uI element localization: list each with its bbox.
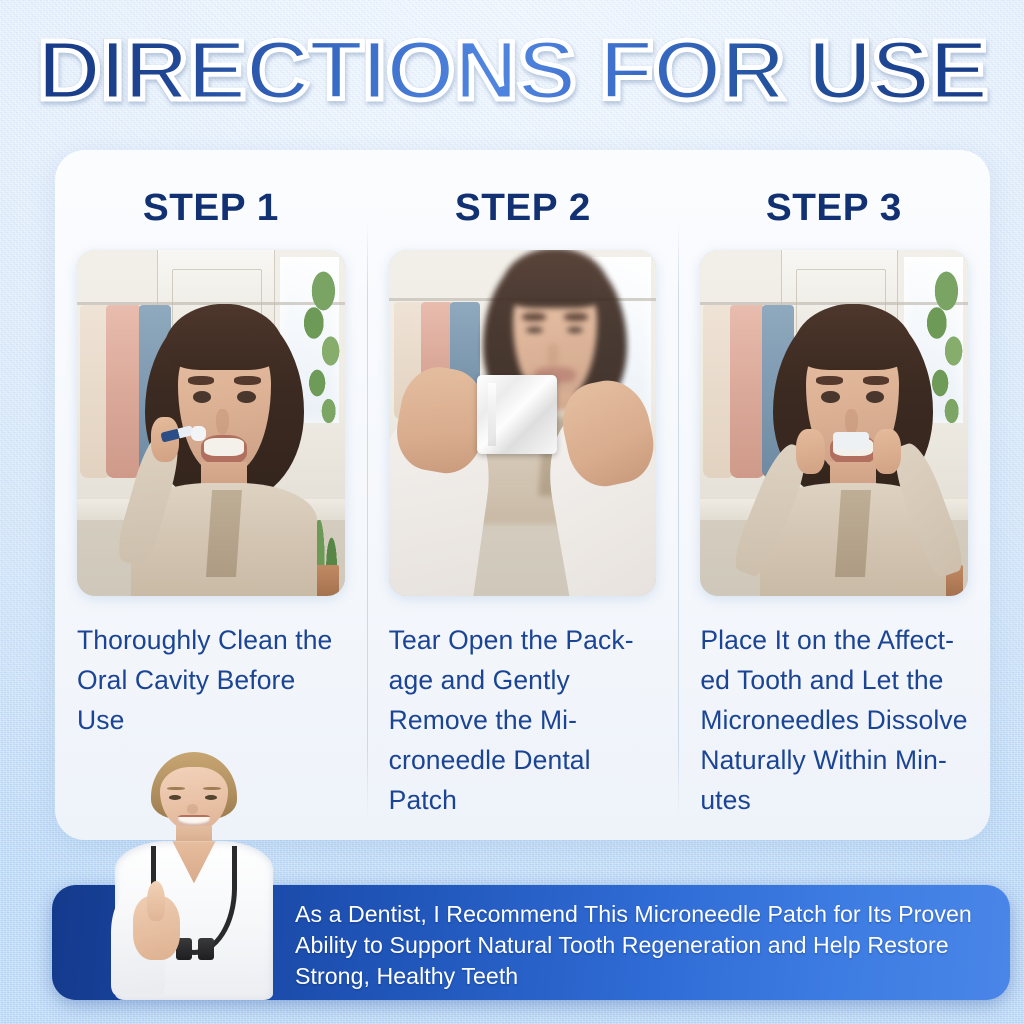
page-title-text: DIRECTIONS FOR USE [37, 22, 988, 118]
step-3-heading: STEP 3 [698, 184, 971, 232]
poster-root: DIRECTIONS FOR USE STEP 1 [0, 0, 1024, 1024]
step-2-heading: STEP 2 [386, 184, 659, 232]
microneedle-patch-in-photo [833, 432, 870, 450]
step-1-image [77, 250, 345, 596]
step-2-caption: Tear Open the Pack- age and Gently Remov… [389, 620, 657, 820]
step-3-image [700, 250, 968, 596]
steps-card: STEP 1 [55, 150, 990, 840]
step-2-image [389, 250, 657, 596]
step-column-3: STEP 3 [678, 150, 990, 840]
step-1-caption: Thoroughly Clean the Oral Cavity Before … [77, 620, 345, 740]
step-column-2: STEP 2 [367, 150, 679, 840]
page-title: DIRECTIONS FOR USE [0, 22, 1024, 118]
banner-text: As a Dentist, I Recommend This Microneed… [295, 899, 974, 992]
step-3-caption: Place It on the Affect- ed Tooth and Let… [700, 620, 968, 820]
dentist-figure [104, 752, 284, 1000]
step-1-heading: STEP 1 [74, 184, 347, 232]
step-column-1: STEP 1 [55, 150, 367, 840]
